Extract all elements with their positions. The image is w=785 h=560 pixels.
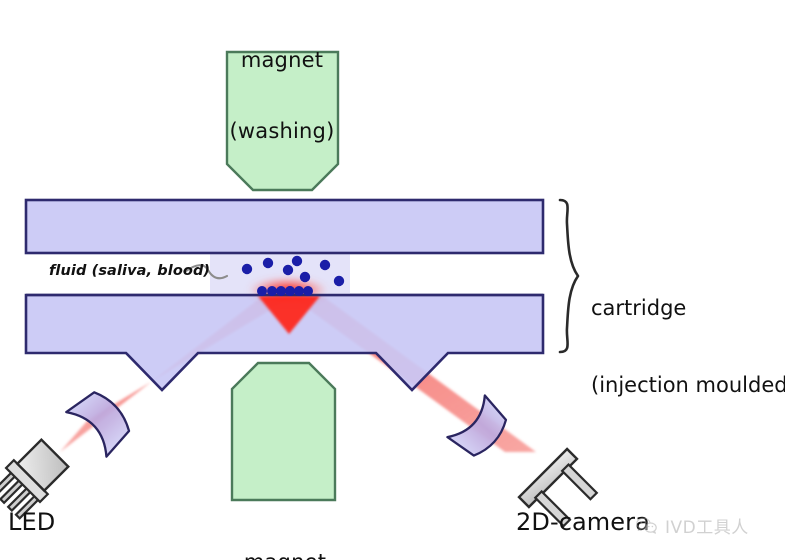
cartridge-upper-plate	[26, 200, 543, 253]
bound-bead	[303, 286, 313, 296]
bound-bead	[276, 286, 286, 296]
wechat-icon	[636, 517, 658, 535]
fluid-label: fluid (saliva, blood)	[49, 263, 210, 279]
magnet-bottom-label: magnet (binding)	[180, 504, 390, 560]
magnet-bottom-binding	[232, 363, 335, 500]
diagram-canvas: magnet (washing) magnet (binding) cartri…	[0, 0, 785, 560]
cartridge-brace	[560, 200, 578, 352]
cartridge-label-line2: (injection moulded)	[591, 373, 785, 399]
magnet-top-label: magnet (washing)	[177, 2, 387, 190]
bound-bead	[294, 286, 304, 296]
magnet-bottom-label-line1: magnet	[180, 551, 390, 560]
bound-bead	[257, 286, 267, 296]
magnet-top-label-line1: magnet	[177, 49, 387, 73]
free-bead	[263, 258, 273, 268]
free-bead	[320, 260, 330, 270]
free-bead	[292, 256, 302, 266]
led-label: LED	[8, 509, 55, 536]
free-bead	[242, 264, 252, 274]
watermark-text: IVD工具人	[665, 513, 749, 538]
cartridge-label-line1: cartridge	[591, 296, 785, 322]
free-bead	[300, 272, 310, 282]
watermark: IVD工具人	[636, 513, 749, 538]
free-bead	[334, 276, 344, 286]
bound-bead	[267, 286, 277, 296]
lens-left	[66, 385, 136, 457]
magnet-top-label-line2: (washing)	[177, 120, 387, 144]
free-bead	[283, 265, 293, 275]
bound-bead	[285, 286, 295, 296]
camera-leg-upper	[562, 465, 597, 500]
camera-label: 2D-camera	[516, 509, 650, 536]
cartridge-label: cartridge (injection moulded)	[591, 245, 785, 450]
